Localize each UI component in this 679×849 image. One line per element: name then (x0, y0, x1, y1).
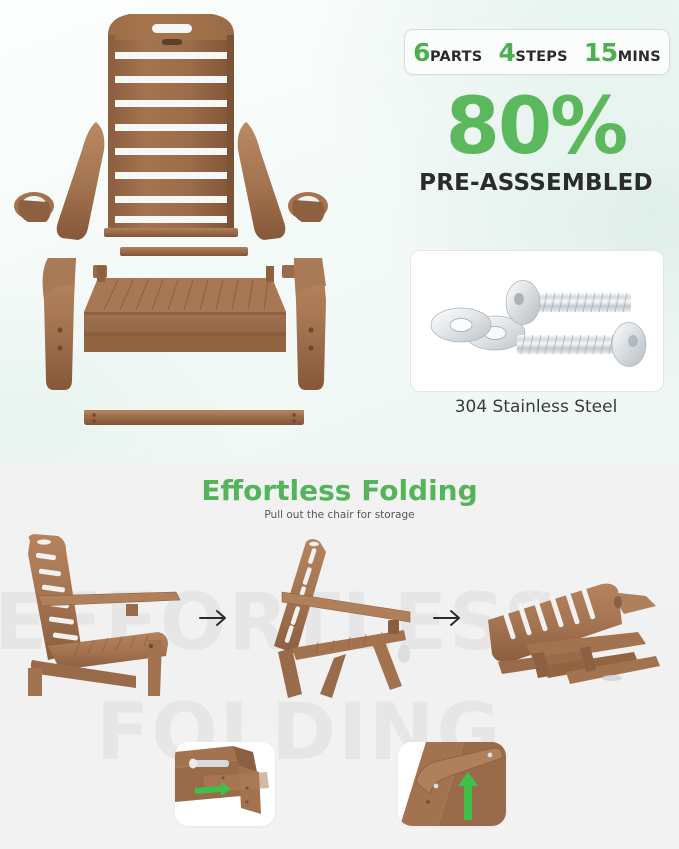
leg-left (43, 258, 76, 390)
crossbar-bottom (84, 410, 304, 425)
latch-detail-illustration (175, 742, 275, 826)
folding-title: Effortless Folding (0, 474, 679, 507)
leg-right (294, 258, 326, 390)
hardware-caption: 304 Stainless Steel (404, 397, 668, 417)
inset-latch-detail (175, 742, 275, 826)
badge-mins: 15 MINS (584, 38, 661, 67)
armrest-right (238, 122, 328, 240)
pre-assembled-percent: 80% (404, 90, 668, 164)
chair-stage-folded-flat (470, 578, 670, 698)
pre-assembled-callout: 80% PRE-ASSSEMBLED (404, 90, 668, 196)
badge-parts: 6 PARTS (413, 38, 482, 67)
badge-mins-unit: MINS (618, 49, 661, 65)
badge-mins-number: 15 (584, 38, 618, 67)
bolt-lower (517, 323, 646, 367)
badge-steps-number: 4 (499, 38, 516, 67)
chair-stage-half-folded (252, 534, 432, 700)
spec-badge-bar: 6 PARTS 4 STEPS 15 MINS (404, 29, 670, 75)
badge-parts-unit: PARTS (430, 49, 482, 65)
armrest-left (14, 122, 104, 240)
pre-assembled-label: PRE-ASSSEMBLED (404, 170, 668, 196)
crossbar-top (120, 247, 248, 256)
badge-steps: 4 STEPS (499, 38, 568, 67)
hardware-illustration (411, 251, 663, 391)
connector-block-right (282, 265, 296, 278)
infographic-page: 6 PARTS 4 STEPS 15 MINS 80% PRE-ASSSEMBL… (0, 0, 679, 849)
folding-subtitle: Pull out the chair for storage (0, 509, 679, 521)
sequence-arrow-2 (432, 608, 466, 628)
hardware-card (410, 250, 664, 392)
backrest-panel (104, 14, 238, 237)
washer-front (431, 308, 491, 342)
bolt-upper (506, 281, 631, 325)
badge-parts-number: 6 (413, 38, 430, 67)
chair-stage-open (8, 528, 198, 698)
sequence-arrow-1 (198, 608, 232, 628)
exploded-parts-diagram (0, 0, 400, 463)
seat-assembly (84, 266, 286, 352)
inset-handle-detail (398, 742, 506, 826)
handle-detail-illustration (398, 742, 506, 826)
badge-steps-unit: STEPS (515, 49, 567, 65)
